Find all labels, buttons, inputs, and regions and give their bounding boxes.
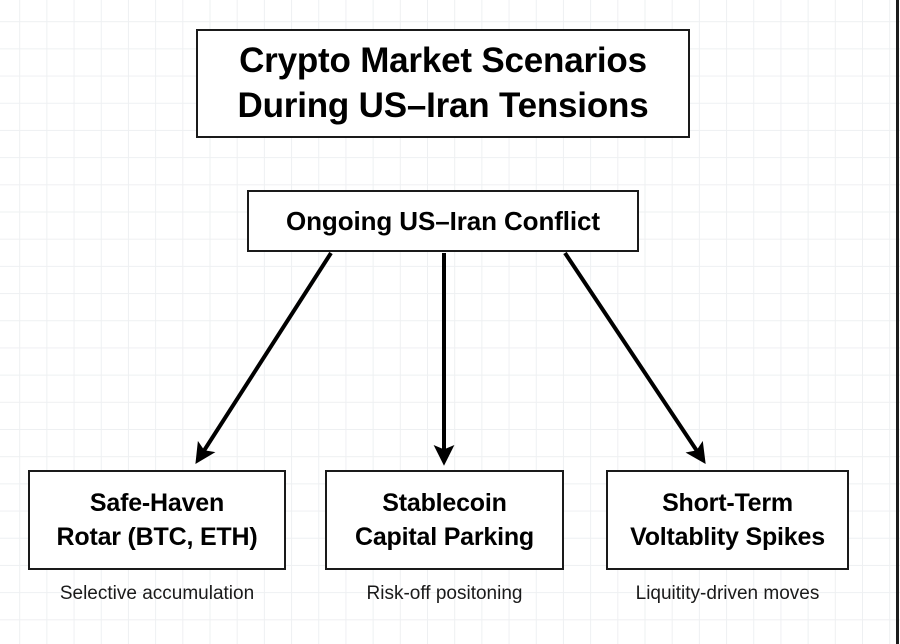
diagram-canvas: Crypto Market Scenarios During US–Iran T… — [0, 0, 900, 644]
branch-node-safe-haven: Safe-Haven Rotar (BTC, ETH) — [28, 470, 286, 570]
branch-node-stablecoin-line-2: Capital Parking — [355, 520, 534, 555]
branch-node-stablecoin: Stablecoin Capital Parking — [325, 470, 564, 570]
branch-caption-safe-haven: Selective accumulation — [28, 583, 286, 605]
arrow-to-short-term — [565, 253, 703, 460]
branch-node-stablecoin-line-1: Stablecoin — [382, 486, 506, 521]
branch-node-safe-haven-line-1: Safe-Haven — [90, 486, 224, 521]
branch-caption-stablecoin: Risk-off positoning — [325, 583, 564, 605]
root-node-ongoing-conflict: Ongoing US–Iran Conflict — [247, 190, 639, 252]
diagram-title-line-2: During US–Iran Tensions — [238, 84, 649, 129]
branch-caption-short-term: Liquitity-driven moves — [606, 583, 849, 605]
canvas-right-edge — [896, 0, 899, 644]
branch-node-short-term: Short-Term Voltablity Spikes — [606, 470, 849, 570]
diagram-title-line-1: Crypto Market Scenarios — [239, 39, 647, 84]
root-node-label: Ongoing US–Iran Conflict — [286, 206, 600, 237]
branch-node-safe-haven-line-2: Rotar (BTC, ETH) — [57, 520, 258, 555]
diagram-title-box: Crypto Market Scenarios During US–Iran T… — [196, 29, 690, 138]
branch-node-short-term-line-1: Short-Term — [662, 486, 793, 521]
arrow-to-safe-haven — [198, 253, 331, 460]
branch-node-short-term-line-2: Voltablity Spikes — [630, 520, 825, 555]
